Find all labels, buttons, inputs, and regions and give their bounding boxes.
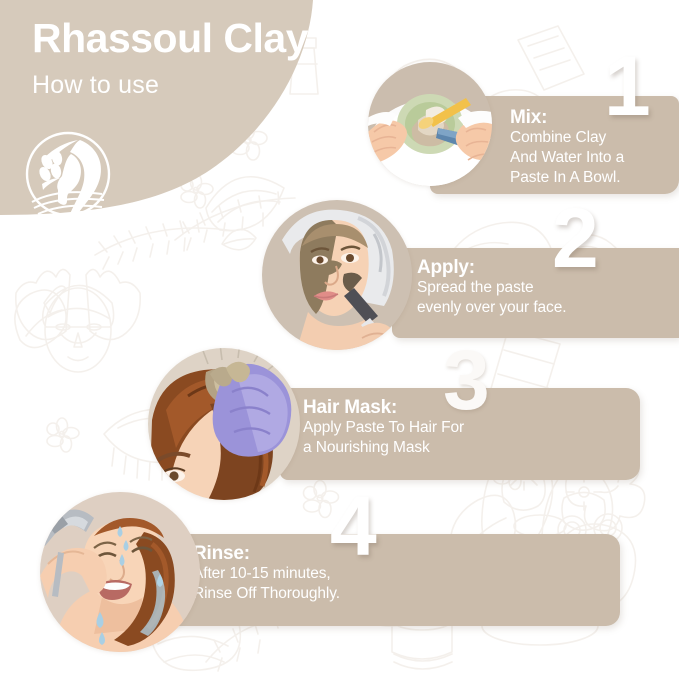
step-4-number: 4 <box>330 484 377 568</box>
infographic-canvas: Rhassoul Clay Rhassoul Clay How to use M <box>0 0 679 679</box>
step-1-image <box>368 62 492 186</box>
step-2-line-2: evenly over your face. <box>417 298 679 318</box>
step-4-image <box>40 492 200 652</box>
step-1-number: 1 <box>604 44 651 128</box>
page-subtitle: How to use <box>32 73 308 98</box>
step-4-line-1: After 10-15 minutes, <box>193 564 620 584</box>
step-4-panel: Rinse: After 10-15 minutes, Rinse Off Th… <box>170 534 620 626</box>
step-2-line-1: Spread the paste <box>417 278 679 298</box>
step-1-line-2: And Water Into a <box>510 148 679 168</box>
step-3-number: 3 <box>443 338 490 422</box>
brand-logo-icon <box>22 128 114 220</box>
header-text-group: Rhassoul Clay How to use <box>32 18 308 98</box>
step-4-heading: Rinse: <box>193 543 620 564</box>
step-4-line-2: Rinse Off Thoroughly. <box>193 584 620 604</box>
page-title: Rhassoul Clay <box>32 18 308 59</box>
step-2-heading: Apply: <box>417 257 679 278</box>
step-1-line-3: Paste In A Bowl. <box>510 168 679 188</box>
step-3-image <box>148 348 300 500</box>
step-2-number: 2 <box>552 196 599 280</box>
step-2-panel: Apply: Spread the paste evenly over your… <box>392 248 679 338</box>
step-2-image <box>262 200 412 350</box>
step-1-heading: Mix: <box>510 107 679 128</box>
step-1-line-1: Combine Clay <box>510 128 679 148</box>
step-3-line-2: a Nourishing Mask <box>303 438 640 458</box>
